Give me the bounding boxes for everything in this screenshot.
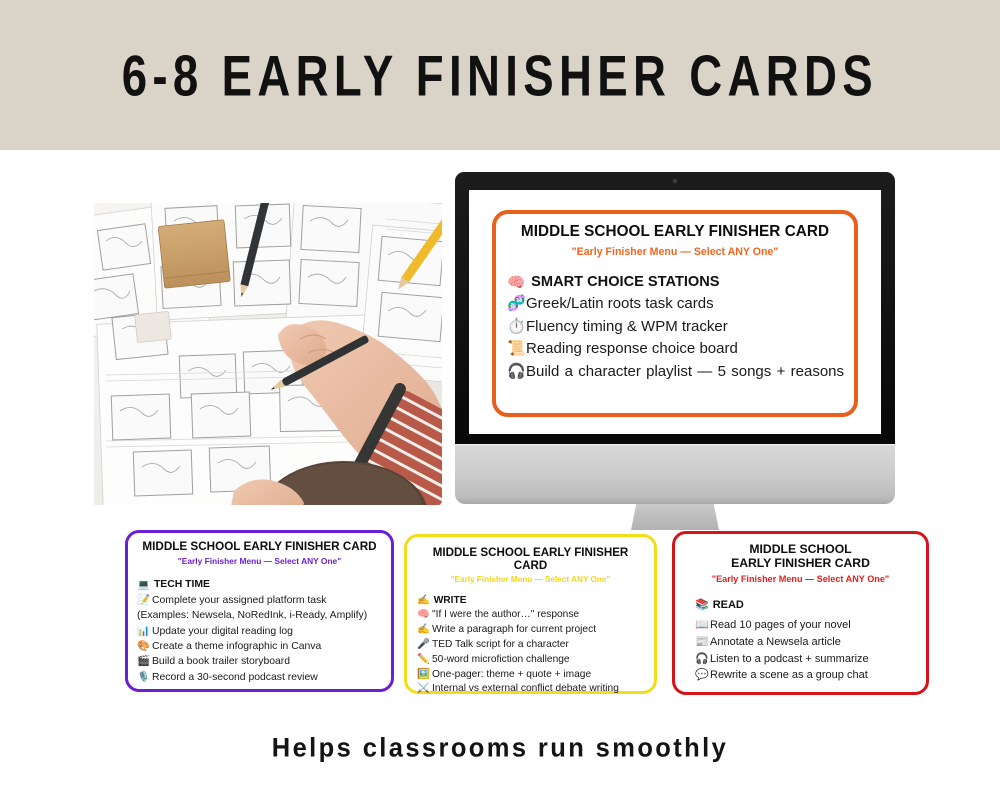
list-item-text: Build a character playlist — 5 songs + r… <box>526 363 844 380</box>
main-card-section-header: 🧠 SMART CHOICE STATIONS <box>505 273 845 291</box>
list-item: 🎬Build a book trailer storyboard <box>137 654 382 669</box>
header-band: 6-8 EARLY FINISHER CARDS <box>0 0 1000 150</box>
main-early-finisher-card: MIDDLE SCHOOL EARLY FINISHER CARD "Early… <box>492 210 858 417</box>
laptop-icon: 💻 <box>137 578 150 591</box>
card-title: MIDDLE SCHOOL EARLY FINISHER CARD <box>417 546 644 572</box>
storyboard-sketching-photo <box>94 203 442 505</box>
scroll-icon: 📜 <box>507 338 526 361</box>
list-item: 🖼️One-pager: theme + quote + image <box>417 668 644 683</box>
brain-icon: 🧠 <box>417 608 432 623</box>
list-item: ✏️50-word microfiction challenge <box>417 653 644 668</box>
list-item-text: Reading response choice board <box>526 340 738 357</box>
list-item-text: TED Talk script for a character <box>432 639 569 650</box>
card-tech-time: MIDDLE SCHOOL EARLY FINISHER CARD "Early… <box>125 530 394 692</box>
card-section-label: READ <box>713 599 744 611</box>
headphone-music-icon: 🎧 <box>695 651 710 668</box>
monitor: MIDDLE SCHOOL EARLY FINISHER CARD "Early… <box>455 172 895 530</box>
list-item: 📝Complete your assigned platform task <box>137 593 382 608</box>
headphone-music-icon: 🎧 <box>507 361 526 384</box>
page-title: 6-8 EARLY FINISHER CARDS <box>122 41 878 108</box>
list-item-text: "If I were the author…" response <box>432 609 579 620</box>
card-item-list: 📖Read 10 pages of your novel 📰Annotate a… <box>685 617 916 684</box>
crossed-swords-icon: ⚔️ <box>417 682 432 697</box>
list-item-text: Listen to a podcast + summarize <box>710 653 869 665</box>
poster-canvas: 6-8 EARLY FINISHER CARDS <box>0 0 1000 800</box>
list-item: 🧠"If I were the author…" response <box>417 608 644 623</box>
main-card-section-label: SMART CHOICE STATIONS <box>531 274 719 290</box>
list-item: 🎤TED Talk script for a character <box>417 638 644 653</box>
list-item: 🎙️Record a 30-second podcast review <box>137 670 382 685</box>
microphone-icon: 🎤 <box>417 638 432 653</box>
list-item-text: Internal vs external conflict debate wri… <box>432 683 619 694</box>
card-title-line2: EARLY FINISHER CARD <box>685 557 916 571</box>
list-item: 📖Read 10 pages of your novel <box>695 617 916 634</box>
monitor-bezel: MIDDLE SCHOOL EARLY FINISHER CARD "Early… <box>455 172 895 444</box>
list-item-text: Fluency timing & WPM tracker <box>526 318 728 335</box>
microphone-icon: 🎙️ <box>137 670 152 685</box>
card-item-list: 📝Complete your assigned platform task (E… <box>137 593 382 685</box>
storyboard-photo <box>94 203 442 505</box>
list-item: 💬Rewrite a scene as a group chat <box>695 667 916 684</box>
list-item-text: (Examples: Newsela, NoRedInk, i-Ready, A… <box>137 610 367 621</box>
card-section-header: 💻 TECH TIME <box>137 578 382 591</box>
list-item-text: Write a paragraph for current project <box>432 624 596 635</box>
card-title-line1: MIDDLE SCHOOL <box>685 543 916 557</box>
dna-icon: 🧬 <box>507 293 526 316</box>
list-item-text: Rewrite a scene as a group chat <box>710 669 868 681</box>
list-item: 🧬Greek/Latin roots task cards <box>505 293 845 316</box>
list-item: 🎧Listen to a podcast + summarize <box>695 651 916 668</box>
memo-icon: 📝 <box>137 593 152 608</box>
list-item: 📰Annotate a Newsela article <box>695 634 916 651</box>
footer-tagline: Helps classrooms run smoothly <box>272 733 728 764</box>
list-item: ✍️Write a paragraph for current project <box>417 623 644 638</box>
card-section-label: TECH TIME <box>154 579 210 590</box>
webcam-dot-icon <box>673 179 677 183</box>
bar-chart-icon: 📊 <box>137 624 152 639</box>
card-title: MIDDLE SCHOOL EARLY FINISHER CARD <box>137 540 382 553</box>
film-clapper-icon: 🎬 <box>137 654 152 669</box>
list-item-text: Record a 30-second podcast review <box>152 672 318 683</box>
card-subtitle: "Early Finisher Menu — Select ANY One" <box>417 575 644 584</box>
list-item-text: Build a book trailer storyboard <box>152 656 290 667</box>
books-icon: 📚 <box>695 598 709 611</box>
list-item-text: Annotate a Newsela article <box>710 636 841 648</box>
writing-hand-icon: ✍️ <box>417 623 432 638</box>
footer-band: Helps classrooms run smoothly <box>0 720 1000 776</box>
list-item: ⏱️Fluency timing & WPM tracker <box>505 316 845 339</box>
list-item-text: Complete your assigned platform task <box>152 595 326 606</box>
stopwatch-icon: ⏱️ <box>507 316 526 339</box>
monitor-screen: MIDDLE SCHOOL EARLY FINISHER CARD "Early… <box>469 190 881 434</box>
main-card-subtitle: "Early Finisher Menu — Select ANY One" <box>505 246 845 258</box>
speech-balloon-icon: 💬 <box>695 667 710 684</box>
palette-icon: 🎨 <box>137 639 152 654</box>
card-write: MIDDLE SCHOOL EARLY FINISHER CARD "Early… <box>404 534 657 694</box>
card-read: MIDDLE SCHOOL EARLY FINISHER CARD "Early… <box>672 531 929 695</box>
list-item-text: 50-word microfiction challenge <box>432 654 570 665</box>
list-item: 📜Reading response choice board <box>505 338 845 361</box>
brain-icon: 🧠 <box>507 273 525 291</box>
list-item: ⚔️Internal vs external conflict debate w… <box>417 682 644 697</box>
list-item: 🎧Build a character playlist — 5 songs + … <box>505 361 845 384</box>
list-item-text: One-pager: theme + quote + image <box>432 669 591 680</box>
card-section-header: 📚 READ <box>685 598 916 611</box>
list-item-text: Update your digital reading log <box>152 626 293 637</box>
monitor-chin <box>455 444 895 504</box>
list-item-text: Read 10 pages of your novel <box>710 619 851 631</box>
framed-picture-icon: 🖼️ <box>417 668 432 683</box>
card-section-header: ✍️ WRITE <box>417 595 644 606</box>
list-item: 📊Update your digital reading log <box>137 624 382 639</box>
main-card-title: MIDDLE SCHOOL EARLY FINISHER CARD <box>505 224 845 241</box>
monitor-stand <box>631 504 719 530</box>
newspaper-icon: 📰 <box>695 634 710 651</box>
open-book-icon: 📖 <box>695 617 710 634</box>
main-card-item-list: 🧬Greek/Latin roots task cards ⏱️Fluency … <box>505 293 845 384</box>
list-item: 🎨Create a theme infographic in Canva <box>137 639 382 654</box>
card-section-label: WRITE <box>434 595 467 606</box>
writing-hand-icon: ✍️ <box>417 595 430 606</box>
pencil-icon: ✏️ <box>417 653 432 668</box>
list-item-note: (Examples: Newsela, NoRedInk, i-Ready, A… <box>137 608 382 623</box>
card-item-list: 🧠"If I were the author…" response ✍️Writ… <box>417 608 644 697</box>
list-item-text: Create a theme infographic in Canva <box>152 641 321 652</box>
card-subtitle: "Early Finisher Menu — Select ANY One" <box>137 556 382 566</box>
list-item-text: Greek/Latin roots task cards <box>526 295 714 312</box>
card-subtitle: "Early Finisher Menu — Select ANY One" <box>685 574 916 584</box>
